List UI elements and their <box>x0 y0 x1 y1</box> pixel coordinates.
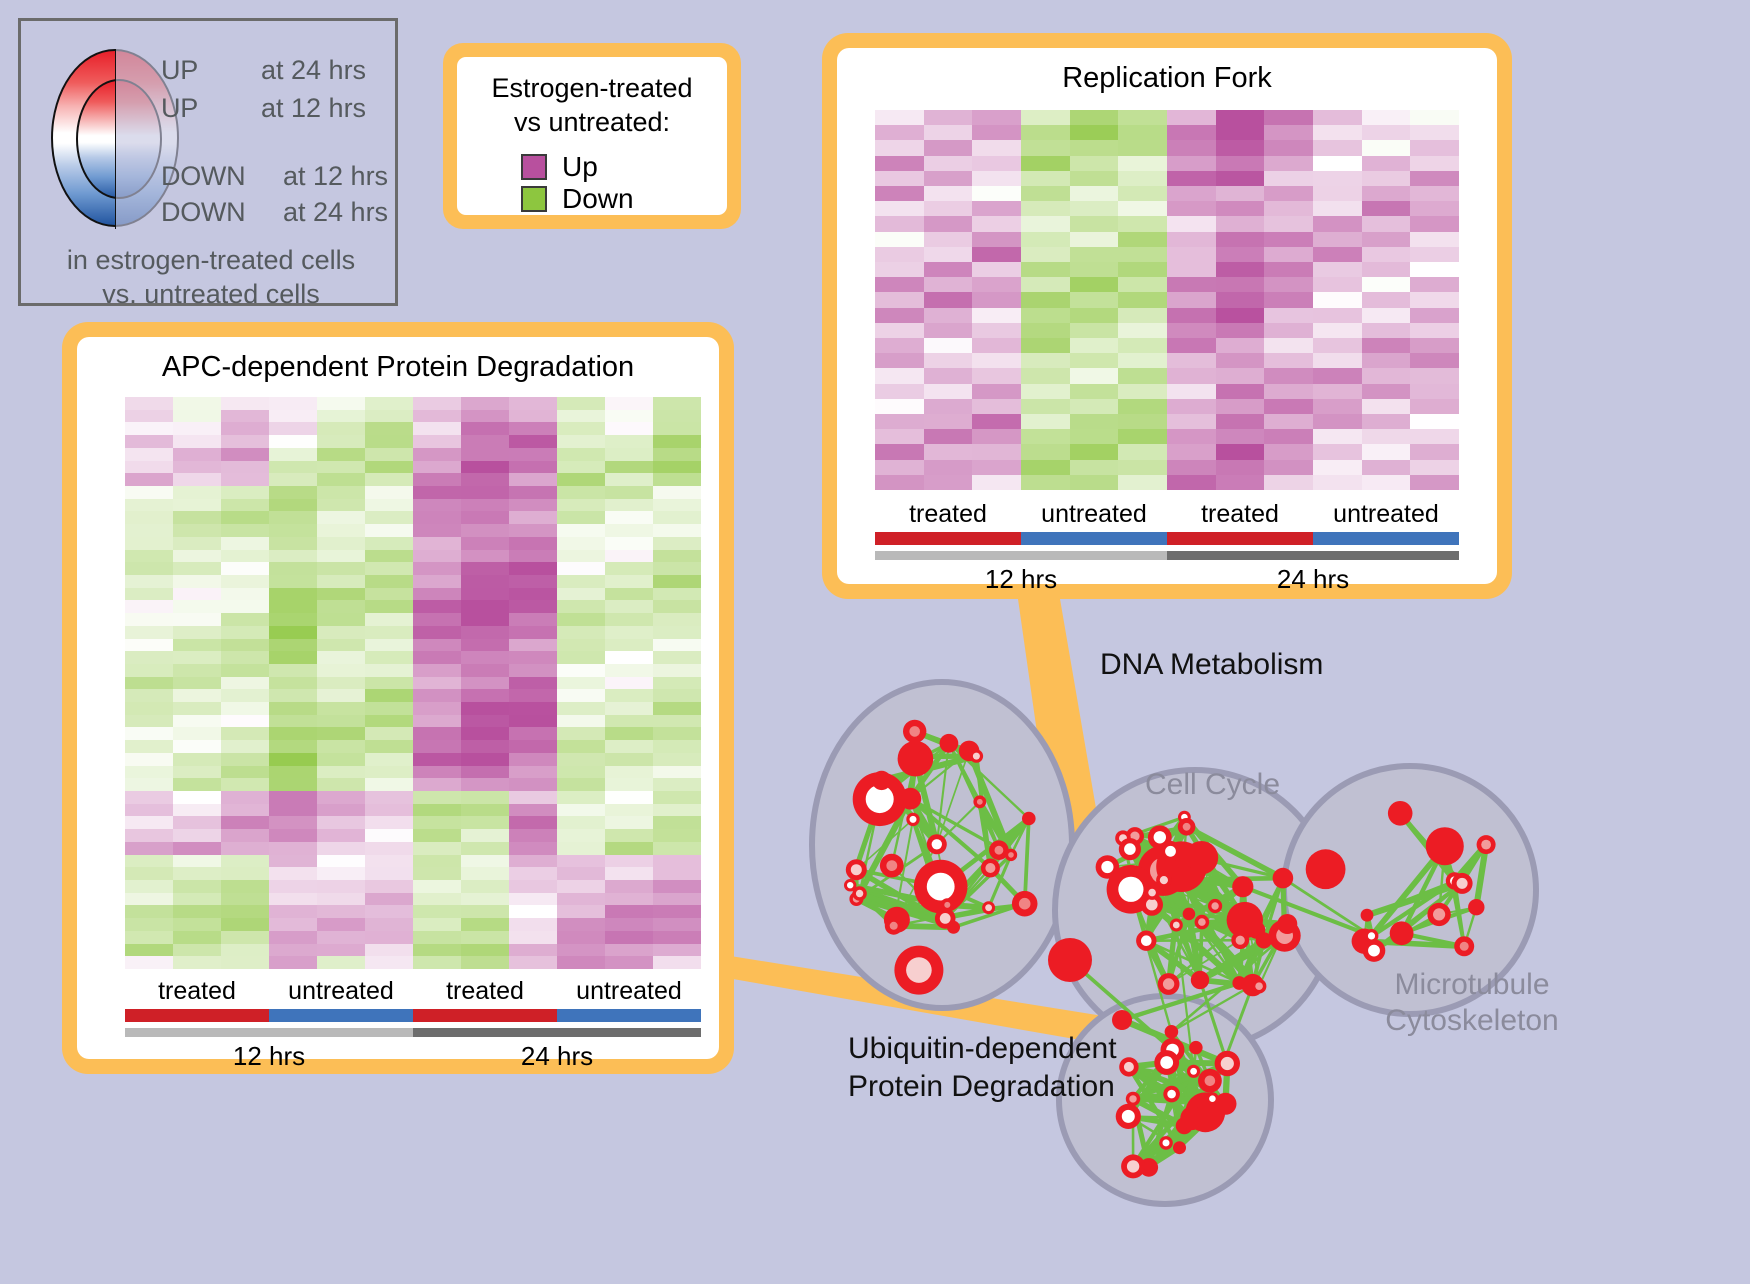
heatmap-cell <box>1362 201 1411 216</box>
heatmap-cell <box>221 397 269 410</box>
heatmap-cell <box>413 804 461 817</box>
wheel-time-down-12: at 12 hrs <box>283 161 388 192</box>
heatmap-cell <box>365 956 413 969</box>
heatmap-cell <box>1070 384 1119 399</box>
heatmap-cell <box>1410 156 1459 171</box>
heatmap-cell <box>173 816 221 829</box>
heatmap-cell <box>557 499 605 512</box>
heatmap-cell <box>1410 216 1459 231</box>
network-svg <box>770 600 1750 1279</box>
heatmap-cell <box>605 855 653 868</box>
updown-legend-title: Estrogen-treated vs untreated: <box>457 71 727 139</box>
heatmap-cell <box>461 816 509 829</box>
heatmap-cell <box>413 905 461 918</box>
heatmap-cell <box>1021 429 1070 444</box>
apc-condition-label-2: treated <box>413 977 557 1006</box>
heatmap-cell <box>1118 353 1167 368</box>
heatmap-cell <box>605 766 653 779</box>
heatmap-cell <box>1118 308 1167 323</box>
heatmap-cell <box>557 410 605 423</box>
heatmap-cell <box>317 575 365 588</box>
heatmap-cell <box>653 740 701 753</box>
heatmap-cell <box>605 816 653 829</box>
heatmap-cell <box>509 600 557 613</box>
heatmap-cell <box>653 829 701 842</box>
heatmap-cell <box>875 444 924 459</box>
heatmap-cell <box>1313 353 1362 368</box>
heatmap-cell <box>1167 125 1216 140</box>
heatmap-cell <box>461 715 509 728</box>
heatmap-cell <box>413 588 461 601</box>
rf-condition-label-1: untreated <box>1021 500 1167 529</box>
heatmap-cell <box>509 727 557 740</box>
heatmap-cell <box>1070 186 1119 201</box>
heatmap-cell <box>605 956 653 969</box>
heatmap-cell <box>317 893 365 906</box>
heatmap-cell <box>509 397 557 410</box>
heatmap-cell <box>413 918 461 931</box>
heatmap-cell <box>317 486 365 499</box>
heatmap-cell <box>653 664 701 677</box>
heatmap-cell <box>1264 186 1313 201</box>
heatmap-cell <box>1410 368 1459 383</box>
heatmap-cell <box>972 232 1021 247</box>
heatmap-cell <box>365 727 413 740</box>
heatmap-cell <box>509 588 557 601</box>
heatmap-cell <box>317 651 365 664</box>
heatmap-cell <box>1070 338 1119 353</box>
heatmap-cell <box>1216 186 1265 201</box>
heatmap-cell <box>125 778 173 791</box>
heatmap-cell <box>269 613 317 626</box>
legend-label-up: Up <box>562 151 598 183</box>
heatmap-cell <box>605 918 653 931</box>
wheel-label-down-12: DOWN <box>161 161 245 192</box>
heatmap-cell <box>461 448 509 461</box>
heatmap-cell <box>269 486 317 499</box>
heatmap-cell <box>125 842 173 855</box>
heatmap-cell <box>317 905 365 918</box>
cluster-label-cell-cycle: Cell Cycle <box>1145 768 1280 802</box>
heatmap-cell <box>461 804 509 817</box>
heatmap-cell <box>317 499 365 512</box>
heatmap-cell <box>317 855 365 868</box>
heatmap-cell <box>365 740 413 753</box>
wheel-label-up-24: UP <box>161 55 198 86</box>
heatmap-cell <box>875 262 924 277</box>
heatmap-cell <box>875 429 924 444</box>
heatmap-cell <box>317 435 365 448</box>
heatmap-cell <box>173 804 221 817</box>
heatmap-cell <box>1216 216 1265 231</box>
heatmap-cell <box>173 600 221 613</box>
heatmap-cell <box>221 766 269 779</box>
heatmap-cell <box>413 766 461 779</box>
heatmap-cell <box>125 702 173 715</box>
heatmap-cell <box>653 575 701 588</box>
heatmap-cell <box>1118 277 1167 292</box>
heatmap-cell <box>173 664 221 677</box>
heatmap-cell <box>173 715 221 728</box>
heatmap-cell <box>221 715 269 728</box>
heatmap-cell <box>1021 201 1070 216</box>
heatmap-cell <box>413 855 461 868</box>
heatmap-cell <box>221 867 269 880</box>
heatmap-cell <box>173 689 221 702</box>
heatmap-cell <box>317 588 365 601</box>
heatmap-cell <box>317 562 365 575</box>
heatmap-cell <box>1362 186 1411 201</box>
heatmap-cell <box>125 588 173 601</box>
heatmap-cell <box>461 422 509 435</box>
updown-title-line2: vs untreated: <box>457 105 727 139</box>
heatmap-cell <box>1216 414 1265 429</box>
heatmap-cell <box>653 435 701 448</box>
heatmap-cell <box>924 125 973 140</box>
heatmap-cell <box>653 880 701 893</box>
heatmap-cell <box>413 702 461 715</box>
heatmap-cell <box>1167 171 1216 186</box>
rf-condition-label-0: treated <box>875 500 1021 529</box>
heatmap-cell <box>1021 292 1070 307</box>
heatmap-cell <box>221 410 269 423</box>
heatmap-cell <box>509 829 557 842</box>
heatmap-cell <box>365 791 413 804</box>
heatmap-cell <box>972 292 1021 307</box>
heatmap-cell <box>317 664 365 677</box>
heatmap-cell <box>605 804 653 817</box>
heatmap-cell <box>173 702 221 715</box>
heatmap-cell <box>653 702 701 715</box>
heatmap-cell <box>1216 247 1265 262</box>
heatmap-cell <box>1167 368 1216 383</box>
heatmap-cell <box>125 893 173 906</box>
heatmap-cell <box>509 613 557 626</box>
rf-time-bar <box>875 551 1459 560</box>
heatmap-cell <box>317 753 365 766</box>
heatmap-cell <box>125 804 173 817</box>
heatmap-cell <box>413 473 461 486</box>
heatmap-cell <box>1362 368 1411 383</box>
heatmap-cell <box>557 639 605 652</box>
wheel-time-down-24: at 24 hrs <box>283 197 388 228</box>
cluster-label-dna-metabolism: DNA Metabolism <box>1100 648 1323 682</box>
heatmap-cell <box>557 740 605 753</box>
heatmap-cell <box>413 639 461 652</box>
heatmap-cell <box>269 651 317 664</box>
heatmap-cell <box>1313 399 1362 414</box>
panel-replication-fork: Replication Fork treated untreated treat… <box>822 33 1512 599</box>
heatmap-cell <box>653 944 701 957</box>
heatmap-cell <box>1313 186 1362 201</box>
heatmap-cell <box>1118 171 1167 186</box>
heatmap-cell <box>653 842 701 855</box>
heatmap-cell <box>1362 308 1411 323</box>
heatmap-cell <box>1362 262 1411 277</box>
heatmap-cell <box>557 613 605 626</box>
heatmap-cell <box>509 499 557 512</box>
heatmap-cell <box>413 550 461 563</box>
heatmap-cell <box>173 499 221 512</box>
heatmap-cell <box>413 613 461 626</box>
heatmap-cell <box>1313 277 1362 292</box>
heatmap-cell <box>461 727 509 740</box>
legend-label-down: Down <box>562 183 634 215</box>
heatmap-cell <box>1216 323 1265 338</box>
heatmap-cell <box>605 893 653 906</box>
heatmap-cell <box>125 715 173 728</box>
heatmap-cell <box>1313 338 1362 353</box>
heatmap-cell <box>875 201 924 216</box>
heatmap-cell <box>1362 475 1411 490</box>
heatmap-cell <box>221 804 269 817</box>
heatmap-cell <box>972 140 1021 155</box>
heatmap-cell <box>924 475 973 490</box>
heatmap-cell <box>605 473 653 486</box>
heatmap-cell <box>1021 353 1070 368</box>
rf-time-bar-24hrs <box>1167 551 1459 560</box>
heatmap-cell <box>461 677 509 690</box>
heatmap-cell <box>1167 429 1216 444</box>
heatmap-cell <box>653 537 701 550</box>
heatmap-cell <box>221 740 269 753</box>
heatmap-cell <box>1216 353 1265 368</box>
heatmap-cell <box>1118 429 1167 444</box>
heatmap-cell <box>365 410 413 423</box>
heatmap-cell <box>1167 262 1216 277</box>
heatmap-cell <box>1313 247 1362 262</box>
heatmap-cell <box>317 778 365 791</box>
heatmap-cell <box>1021 368 1070 383</box>
heatmap-cell <box>413 753 461 766</box>
colorwheel-footer-line1: in estrogen-treated cells <box>21 243 401 277</box>
heatmap-cell <box>924 140 973 155</box>
heatmap-cell <box>1021 262 1070 277</box>
heatmap-cell <box>1410 262 1459 277</box>
heatmap-cell <box>605 931 653 944</box>
heatmap-cell <box>509 778 557 791</box>
heatmap-cell <box>1410 292 1459 307</box>
heatmap-cell <box>509 422 557 435</box>
heatmap-cell <box>605 524 653 537</box>
apc-condition-labels: treated untreated treated untreated <box>125 977 701 1006</box>
heatmap-cell <box>653 562 701 575</box>
heatmap-cell <box>605 651 653 664</box>
heatmap-cell <box>413 677 461 690</box>
heatmap-cell <box>1313 216 1362 231</box>
heatmap-cell <box>557 766 605 779</box>
heatmap-cell <box>1313 110 1362 125</box>
heatmap-cell <box>1167 186 1216 201</box>
heatmap-cell <box>125 829 173 842</box>
heatmap-cell <box>1118 110 1167 125</box>
heatmap-cell <box>1118 140 1167 155</box>
heatmap-cell <box>557 855 605 868</box>
heatmap-cell <box>1070 201 1119 216</box>
heatmap-cell <box>605 422 653 435</box>
heatmap-cell <box>1167 460 1216 475</box>
heatmap-cell <box>125 613 173 626</box>
heatmap-cell <box>924 232 973 247</box>
apc-condition-bar <box>125 1009 701 1022</box>
heatmap-cell <box>317 537 365 550</box>
heatmap-cell <box>972 414 1021 429</box>
heatmap-cell <box>221 613 269 626</box>
apc-cond-bar-untreated-12 <box>269 1009 413 1022</box>
rf-time-bar-12hrs <box>875 551 1167 560</box>
heatmap-cell <box>509 867 557 880</box>
heatmap-cell <box>1118 247 1167 262</box>
heatmap-cell <box>221 944 269 957</box>
apc-cond-bar-treated-24 <box>413 1009 557 1022</box>
heatmap-cell <box>1021 277 1070 292</box>
heatmap-cell <box>1264 292 1313 307</box>
heatmap-cell <box>1167 323 1216 338</box>
heatmap-cell <box>173 524 221 537</box>
heatmap-cell <box>509 524 557 537</box>
heatmap-replication-fork <box>875 110 1459 490</box>
heatmap-cell <box>557 588 605 601</box>
heatmap-cell <box>875 323 924 338</box>
heatmap-cell <box>1167 399 1216 414</box>
heatmap-cell <box>269 905 317 918</box>
heatmap-cell <box>1216 232 1265 247</box>
heatmap-cell <box>1264 353 1313 368</box>
heatmap-cell <box>1313 323 1362 338</box>
heatmap-cell <box>365 600 413 613</box>
heatmap-cell <box>125 766 173 779</box>
heatmap-cell <box>221 562 269 575</box>
heatmap-cell <box>317 461 365 474</box>
heatmap-cell <box>461 918 509 931</box>
heatmap-cell <box>365 893 413 906</box>
heatmap-cell <box>1167 216 1216 231</box>
heatmap-cell <box>317 689 365 702</box>
heatmap-cell <box>221 880 269 893</box>
heatmap-cell <box>173 626 221 639</box>
heatmap-cell <box>1362 384 1411 399</box>
heatmap-cell <box>125 651 173 664</box>
updown-legend-card: Estrogen-treated vs untreated: Up Down <box>443 43 741 229</box>
heatmap-cell <box>509 448 557 461</box>
heatmap-cell <box>1313 292 1362 307</box>
heatmap-cell <box>317 473 365 486</box>
heatmap-cell <box>924 247 973 262</box>
heatmap-cell <box>924 384 973 399</box>
heatmap-cell <box>557 600 605 613</box>
heatmap-cell <box>365 448 413 461</box>
heatmap-cell <box>125 791 173 804</box>
heatmap-cell <box>461 524 509 537</box>
heatmap-cell <box>221 588 269 601</box>
heatmap-cell <box>413 651 461 664</box>
heatmap-cell <box>269 677 317 690</box>
heatmap-cell <box>924 201 973 216</box>
heatmap-cell <box>1118 399 1167 414</box>
heatmap-cell <box>125 639 173 652</box>
heatmap-cell <box>557 715 605 728</box>
heatmap-cell <box>1410 429 1459 444</box>
heatmap-cell <box>173 778 221 791</box>
heatmap-cell <box>605 461 653 474</box>
heatmap-cell <box>173 727 221 740</box>
heatmap-cell <box>1264 323 1313 338</box>
heatmap-cell <box>317 639 365 652</box>
heatmap-cell <box>557 397 605 410</box>
heatmap-cell <box>509 918 557 931</box>
heatmap-cell <box>365 473 413 486</box>
heatmap-cell <box>1362 125 1411 140</box>
apc-condition-label-3: untreated <box>557 977 701 1006</box>
heatmap-cell <box>509 575 557 588</box>
heatmap-cell <box>653 727 701 740</box>
heatmap-cell <box>509 855 557 868</box>
heatmap-cell <box>605 575 653 588</box>
heatmap-cell <box>924 186 973 201</box>
heatmap-cell <box>173 575 221 588</box>
heatmap-cell <box>509 651 557 664</box>
heatmap-cell <box>1118 475 1167 490</box>
heatmap-cell <box>1264 308 1313 323</box>
heatmap-cell <box>972 186 1021 201</box>
heatmap-cell <box>972 262 1021 277</box>
heatmap-cell <box>1118 156 1167 171</box>
heatmap-cell <box>461 600 509 613</box>
heatmap-cell <box>509 626 557 639</box>
heatmap-cell <box>1070 292 1119 307</box>
heatmap-cell <box>413 956 461 969</box>
heatmap-cell <box>653 588 701 601</box>
apc-time-bar-12hrs <box>125 1028 413 1037</box>
heatmap-cell <box>461 575 509 588</box>
heatmap-cell <box>1021 140 1070 155</box>
heatmap-cell <box>173 473 221 486</box>
heatmap-cell <box>365 511 413 524</box>
heatmap-cell <box>173 753 221 766</box>
heatmap-cell <box>221 791 269 804</box>
heatmap-cell <box>1021 384 1070 399</box>
heatmap-cell <box>269 855 317 868</box>
heatmap-cell <box>1167 292 1216 307</box>
heatmap-cell <box>317 727 365 740</box>
heatmap-cell <box>653 461 701 474</box>
heatmap-cell <box>365 944 413 957</box>
heatmap-cell <box>221 626 269 639</box>
heatmap-cell <box>1362 247 1411 262</box>
heatmap-cell <box>221 956 269 969</box>
heatmap-cell <box>509 702 557 715</box>
heatmap-cell <box>221 689 269 702</box>
heatmap-cell <box>413 816 461 829</box>
heatmap-cell <box>557 956 605 969</box>
heatmap-cell <box>461 956 509 969</box>
heatmap-cell <box>317 804 365 817</box>
heatmap-cell <box>317 842 365 855</box>
heatmap-cell <box>365 397 413 410</box>
heatmap-cell <box>413 422 461 435</box>
heatmap-cell <box>317 829 365 842</box>
heatmap-cell <box>1264 156 1313 171</box>
heatmap-cell <box>125 448 173 461</box>
heatmap-cell <box>1410 460 1459 475</box>
heatmap-cell <box>605 588 653 601</box>
heatmap-cell <box>173 461 221 474</box>
heatmap-cell <box>1216 384 1265 399</box>
heatmap-cell <box>1362 323 1411 338</box>
heatmap-cell <box>557 461 605 474</box>
wheel-label-up-12: UP <box>161 93 198 124</box>
heatmap-cell <box>605 867 653 880</box>
